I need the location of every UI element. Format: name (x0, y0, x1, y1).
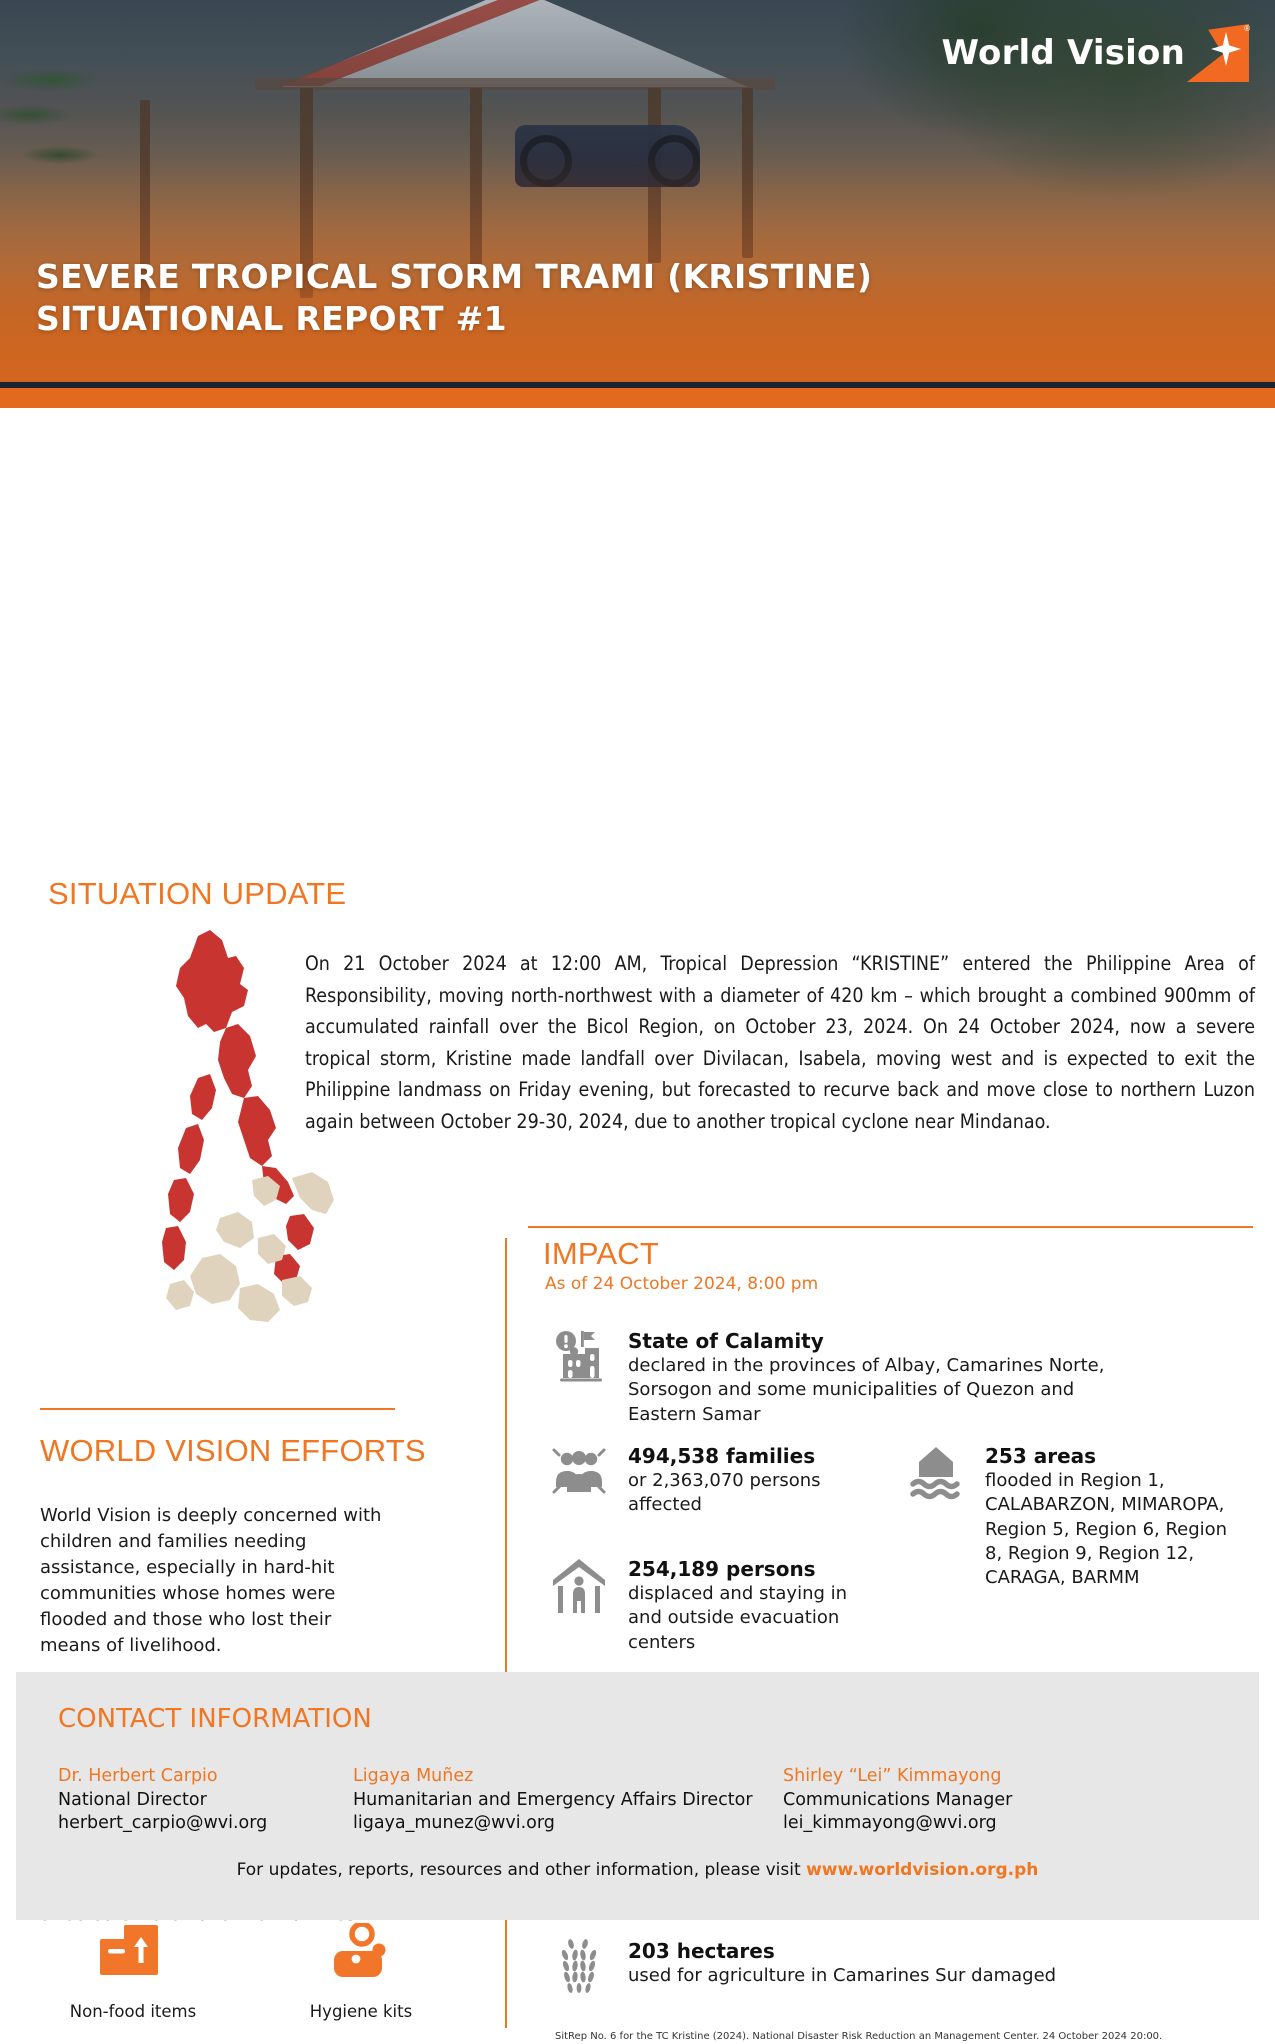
key-concern-hectares-title: 203 hectares (628, 1938, 1056, 1964)
kit-non-food-items: Non-food items (58, 1923, 208, 2021)
key-concern-hectares-text: 203 hectares used for agriculture in Cam… (628, 1938, 1056, 1988)
header-orange-rule (0, 388, 1275, 408)
evacuation-shelter-icon (548, 1556, 610, 1616)
impact-subheading: As of 24 October 2024, 8:00 pm (545, 1274, 818, 1294)
contact-name: Ligaya Muñez (353, 1766, 783, 1786)
situation-update-body: On 21 October 2024 at 12:00 AM, Tropical… (305, 948, 1255, 1137)
logo-mark: ® (1187, 24, 1249, 82)
contact-name: Dr. Herbert Carpio (58, 1766, 353, 1786)
contact-heading: CONTACT INFORMATION (58, 1704, 372, 1734)
impact-families-text: 494,538 families or 2,363,070 persons af… (628, 1443, 848, 1518)
impact-source-citation: SitRep No. 6 for the TC Kristine (2024).… (555, 2030, 1195, 2044)
impact-displaced-title: 254,189 persons (628, 1556, 858, 1582)
kit-non-food-items-label: Non-food items (58, 2002, 208, 2021)
contact-role: Humanitarian and Emergency Affairs Direc… (353, 1790, 783, 1810)
contact-footer: CONTACT INFORMATION Dr. Herbert Carpio N… (16, 1672, 1259, 1920)
logo-star-icon (1211, 32, 1241, 66)
impact-item-families: 494,538 families or 2,363,070 persons af… (548, 1443, 848, 1518)
efforts-heading: WORLD VISION EFFORTS (40, 1433, 426, 1469)
situation-update-heading: SITUATION UPDATE (48, 876, 346, 912)
efforts-paragraph-1: World Vision is deeply concerned with ch… (40, 1503, 392, 1660)
building-alert-icon (548, 1328, 610, 1384)
people-group-icon (548, 1443, 610, 1495)
impact-flooded-title: 253 areas (985, 1443, 1235, 1469)
key-concern-hectares: 203 hectares used for agriculture in Cam… (548, 1938, 1168, 1996)
impact-heading: IMPACT (543, 1236, 659, 1272)
impact-families-title: 494,538 families (628, 1443, 848, 1469)
contact-person-2: Ligaya Muñez Humanitarian and Emergency … (353, 1766, 783, 1833)
contact-person-1: Dr. Herbert Carpio National Director her… (58, 1766, 353, 1833)
footer-note-url[interactable]: www.worldvision.org.ph (806, 1860, 1038, 1880)
contact-email[interactable]: ligaya_munez@wvi.org (353, 1813, 783, 1833)
impact-displaced-text: 254,189 persons displaced and staying in… (628, 1556, 858, 1655)
footer-note: For updates, reports, resources and othe… (16, 1860, 1259, 1880)
contact-person-3: Shirley “Lei” Kimmayong Communications M… (783, 1766, 1103, 1833)
impact-displaced-desc: displaced and staying in and outside eva… (628, 1582, 858, 1655)
world-vision-logo: World Vision ® (942, 24, 1249, 82)
report-body: SITUATION UPDATE On 21 October 2024 at 1… (0, 408, 1275, 1668)
report-title-line1: SEVERE TROPICAL STORM TRAMI (KRISTINE) (36, 256, 872, 298)
impact-calamity-text: State of Calamity declared in the provin… (628, 1328, 1148, 1427)
report-title: SEVERE TROPICAL STORM TRAMI (KRISTINE) S… (36, 256, 872, 340)
efforts-divider (40, 1408, 395, 1410)
report-title-line2: SITUATIONAL REPORT #1 (36, 298, 872, 340)
contact-role: Communications Manager (783, 1790, 1103, 1810)
impact-families-desc: or 2,363,070 persons affected (628, 1469, 848, 1518)
impact-item-flooded: 253 areas flooded in Region 1, CALABARZO… (905, 1443, 1235, 1590)
impact-item-displaced: 254,189 persons displaced and staying in… (548, 1556, 858, 1655)
impact-item-calamity: State of Calamity declared in the provin… (548, 1328, 1148, 1427)
logo-wordmark: World Vision (942, 36, 1185, 70)
contact-list: Dr. Herbert Carpio National Director her… (58, 1766, 1218, 1833)
key-concern-hectares-desc: used for agriculture in Camarines Sur da… (628, 1964, 1056, 1988)
impact-flooded-desc: flooded in Region 1, CALABARZON, MIMAROP… (985, 1469, 1235, 1590)
registered-trademark-icon: ® (1244, 24, 1250, 33)
contact-role: National Director (58, 1790, 353, 1810)
contact-name: Shirley “Lei” Kimmayong (783, 1766, 1103, 1786)
relief-goods-icons: Non-food items Hygiene kits (58, 1923, 436, 2021)
impact-calamity-desc: declared in the provinces of Albay, Cama… (628, 1354, 1148, 1427)
hygiene-kit-icon (326, 1923, 396, 1985)
contact-email[interactable]: herbert_carpio@wvi.org (58, 1813, 353, 1833)
flooded-house-icon (905, 1443, 967, 1503)
impact-divider (528, 1226, 1253, 1228)
wheat-icon (548, 1938, 610, 1996)
impact-calamity-title: State of Calamity (628, 1328, 1148, 1354)
kit-hygiene-kits-label: Hygiene kits (286, 2002, 436, 2021)
contact-email[interactable]: lei_kimmayong@wvi.org (783, 1813, 1103, 1833)
kit-hygiene-kits: Hygiene kits (286, 1923, 436, 2021)
footer-note-text: For updates, reports, resources and othe… (237, 1860, 806, 1880)
impact-flooded-text: 253 areas flooded in Region 1, CALABARZO… (985, 1443, 1235, 1590)
non-food-items-icon (94, 1923, 172, 1985)
hero-header: World Vision ® SEVERE TROPICAL STORM TRA… (0, 0, 1275, 408)
